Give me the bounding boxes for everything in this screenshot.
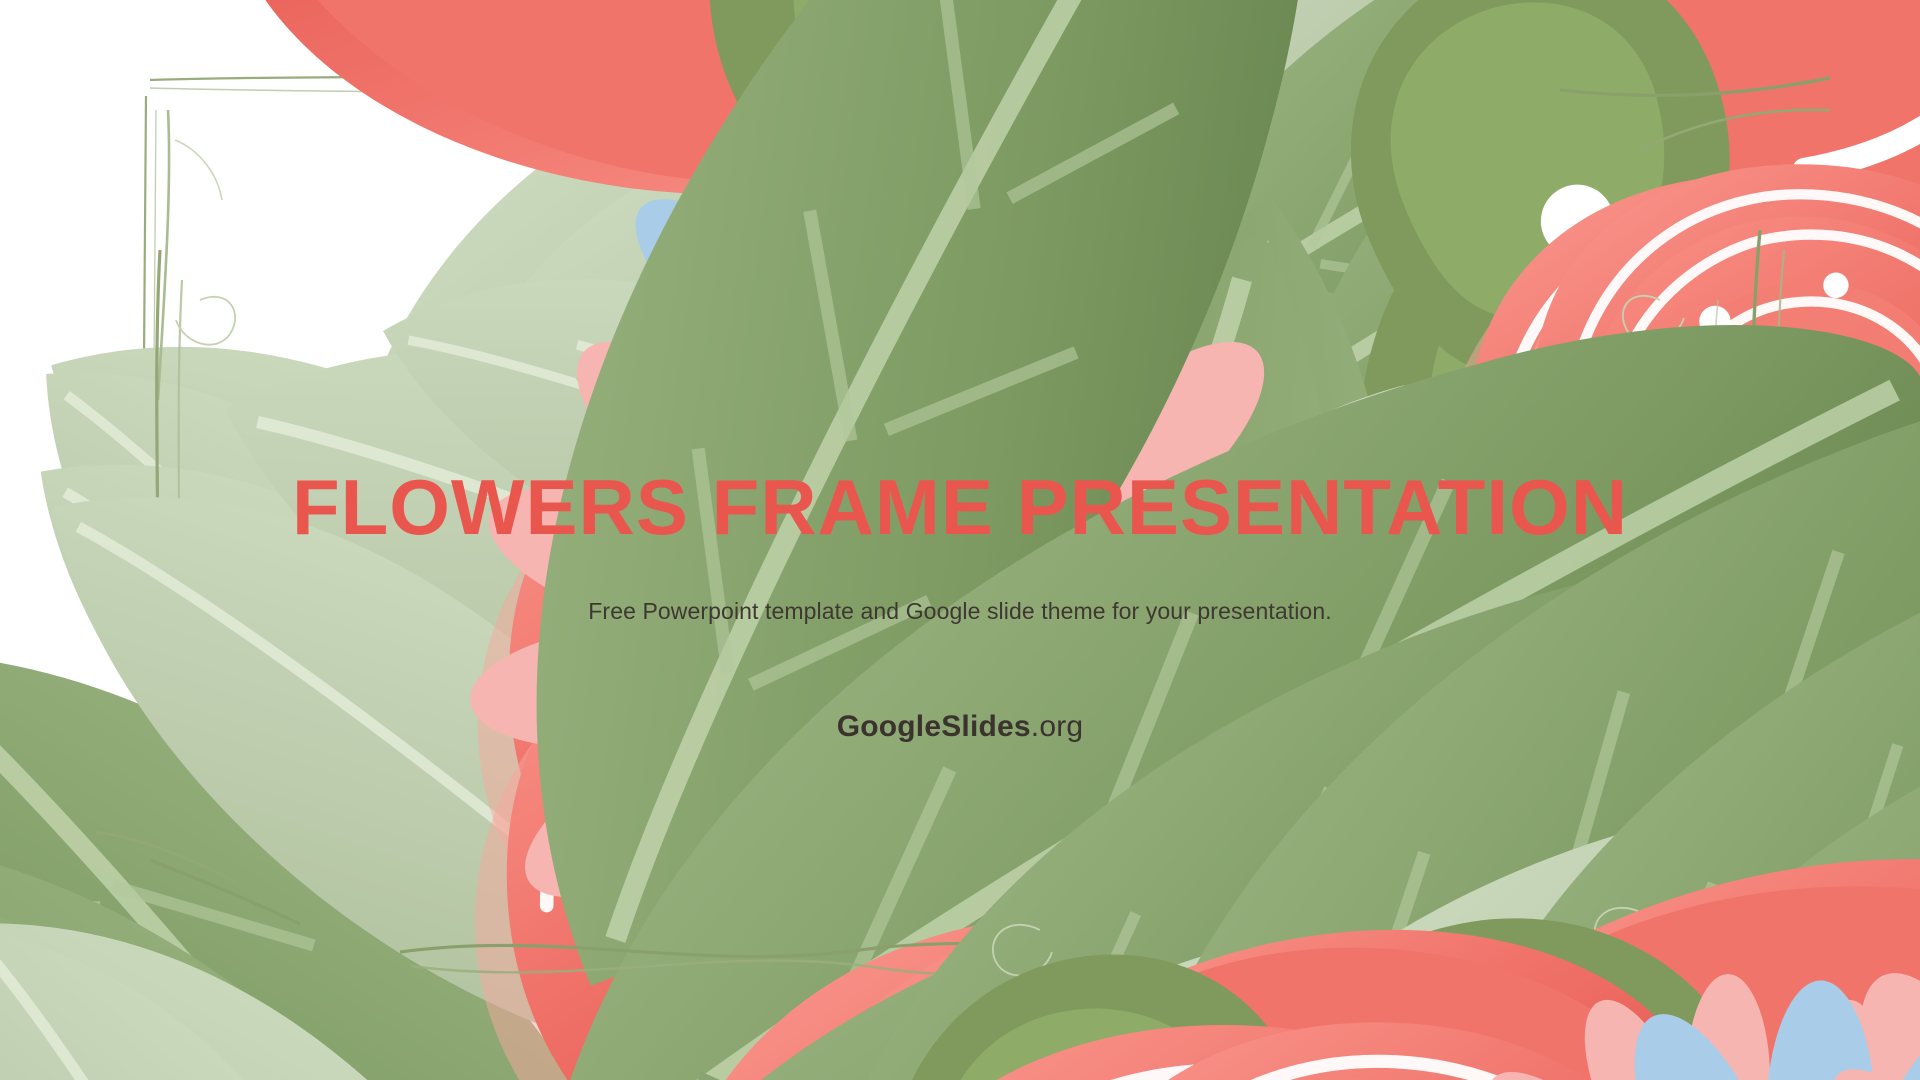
brand-watermark: GoogleSlides.org <box>0 710 1920 744</box>
brand-tld: .org <box>1031 710 1084 743</box>
presentation-slide: FLOWERS FRAME PRESENTATION Free Powerpoi… <box>0 0 1920 1080</box>
slide-content: FLOWERS FRAME PRESENTATION Free Powerpoi… <box>0 0 1920 1080</box>
page-title: FLOWERS FRAME PRESENTATION <box>0 468 1920 546</box>
subtitle-text: Free Powerpoint template and Google slid… <box>0 598 1920 625</box>
brand-name: GoogleSlides <box>837 710 1031 743</box>
